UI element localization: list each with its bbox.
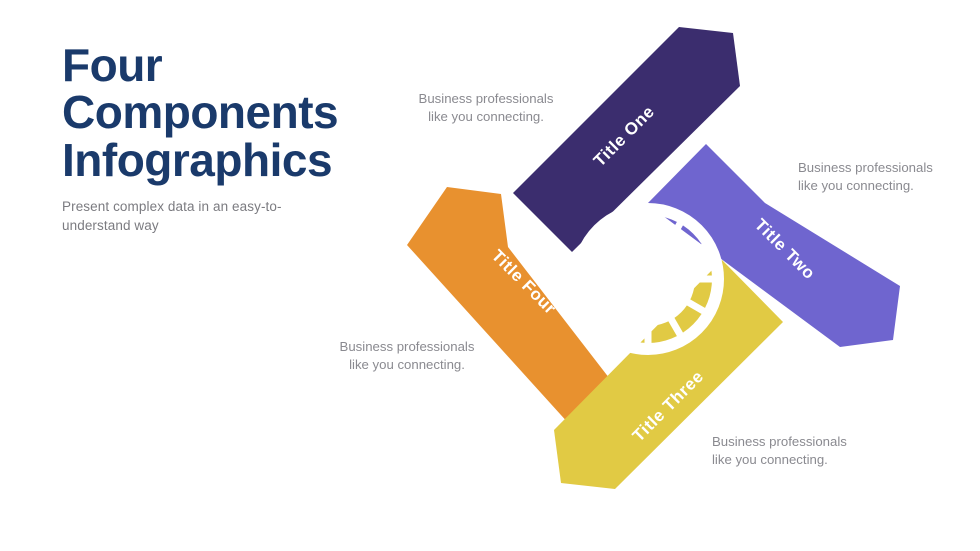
component-two-description: Business professionals like you connecti… bbox=[798, 159, 976, 194]
component-one-description: Business professionals like you connecti… bbox=[397, 90, 575, 125]
slide-canvas: Four Components Infographics Present com… bbox=[0, 0, 980, 551]
component-three-description: Business professionals like you connecti… bbox=[712, 433, 890, 468]
component-four-description: Business professionals like you connecti… bbox=[318, 338, 496, 373]
